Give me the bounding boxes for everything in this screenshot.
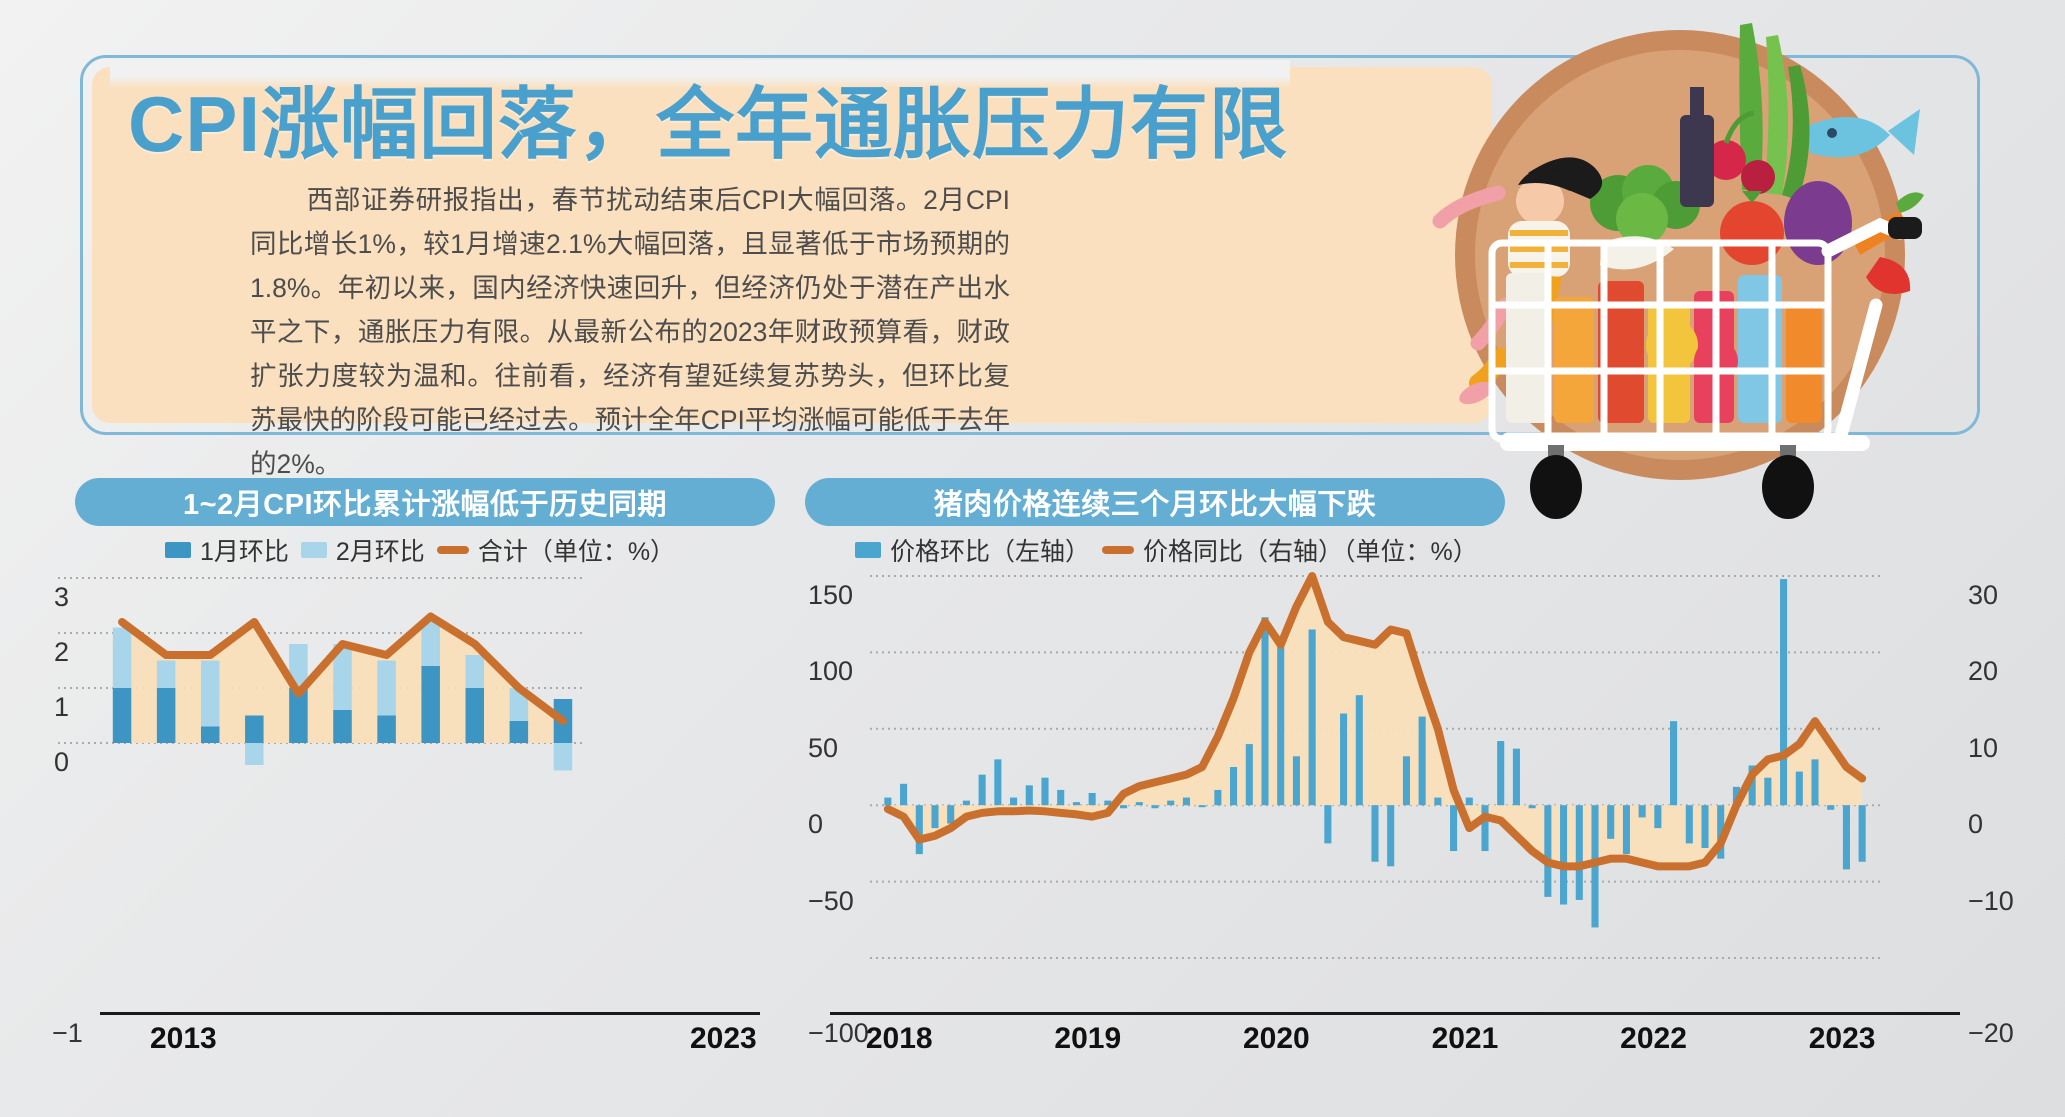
axis-tick-label: 0 — [808, 809, 823, 840]
axis-tick-label: 50 — [808, 733, 838, 764]
axis-tick-label: 2023 — [1809, 1022, 1876, 1056]
axis-tick-label: 10 — [1968, 733, 1998, 764]
legend-swatch-jan — [165, 542, 191, 558]
legend-label-total: 合计（单位：%） — [478, 532, 675, 568]
left-x-label-start: 2013 — [150, 1022, 217, 1056]
axis-tick-label: 2 — [54, 637, 69, 668]
legend-label-mom: 价格环比（左轴） — [890, 532, 1090, 568]
axis-tick-label: 3 — [54, 582, 69, 613]
axis-tick-label: 2018 — [866, 1022, 933, 1056]
legend-item-feb-mom: 2月环比 — [301, 532, 425, 568]
legend-swatch-feb — [301, 542, 327, 558]
legend-label-feb: 2月环比 — [336, 532, 425, 568]
left-chart-plot — [40, 568, 600, 818]
axis-tick-label: 150 — [808, 580, 853, 611]
left-chart-legend: 1月环比 2月环比 合计（单位：%） — [165, 532, 675, 568]
legend-item-yoy: 价格同比（右轴）（单位：%） — [1102, 532, 1478, 568]
right-chart-legend: 价格环比（左轴） 价格同比（右轴）（单位：%） — [855, 532, 1478, 568]
legend-swatch-total — [437, 546, 469, 554]
axis-tick-label: 2019 — [1054, 1022, 1121, 1056]
legend-item-jan-mom: 1月环比 — [165, 532, 289, 568]
legend-swatch-yoy — [1102, 546, 1134, 554]
axis-tick-label: −10 — [1968, 886, 2014, 917]
left-x-label-end: 2023 — [690, 1022, 757, 1056]
axis-tick-label: 30 — [1968, 580, 1998, 611]
page-title: CPI涨幅回落，全年通胀压力有限 — [128, 62, 1288, 174]
infographic-root: CPI涨幅回落，全年通胀压力有限 西部证券研报指出，春节扰动结束后CPI大幅回落… — [0, 0, 2065, 1117]
left-chart-baseline — [100, 1012, 760, 1015]
legend-item-mom: 价格环比（左轴） — [855, 532, 1090, 568]
legend-label-jan: 1月环比 — [200, 532, 289, 568]
axis-tick-label: 20 — [1968, 656, 1998, 687]
legend-label-yoy: 价格同比（右轴）（单位：%） — [1143, 532, 1478, 568]
left-y-label-min: −1 — [52, 1018, 83, 1049]
axis-tick-label: −50 — [808, 886, 854, 917]
right-chart-baseline — [830, 1012, 1960, 1015]
axis-tick-label: 0 — [1968, 809, 1983, 840]
axis-tick-label: 0 — [54, 747, 69, 778]
axis-tick-label: −100 — [808, 1018, 869, 1049]
axis-tick-label: 2020 — [1243, 1022, 1310, 1056]
legend-swatch-mom — [855, 542, 881, 558]
legend-item-total: 合计（单位：%） — [437, 532, 675, 568]
axis-tick-label: 2021 — [1432, 1022, 1499, 1056]
right-chart-title: 猪肉价格连续三个月环比大幅下跌 — [805, 478, 1505, 526]
left-chart-title: 1~2月CPI环比累计涨幅低于历史同期 — [75, 478, 775, 526]
header-body-span: 西部证券研报指出，春节扰动结束后CPI大幅回落。2月CPI同比增长1%，较1月增… — [250, 185, 1010, 479]
axis-tick-label: 2022 — [1620, 1022, 1687, 1056]
axis-tick-label: 100 — [808, 656, 853, 687]
right-chart-plot — [870, 568, 1880, 968]
header-body-text: 西部证券研报指出，春节扰动结束后CPI大幅回落。2月CPI同比增长1%，较1月增… — [250, 178, 1010, 486]
axis-tick-label: −20 — [1968, 1018, 2014, 1049]
axis-tick-label: 1 — [54, 692, 69, 723]
